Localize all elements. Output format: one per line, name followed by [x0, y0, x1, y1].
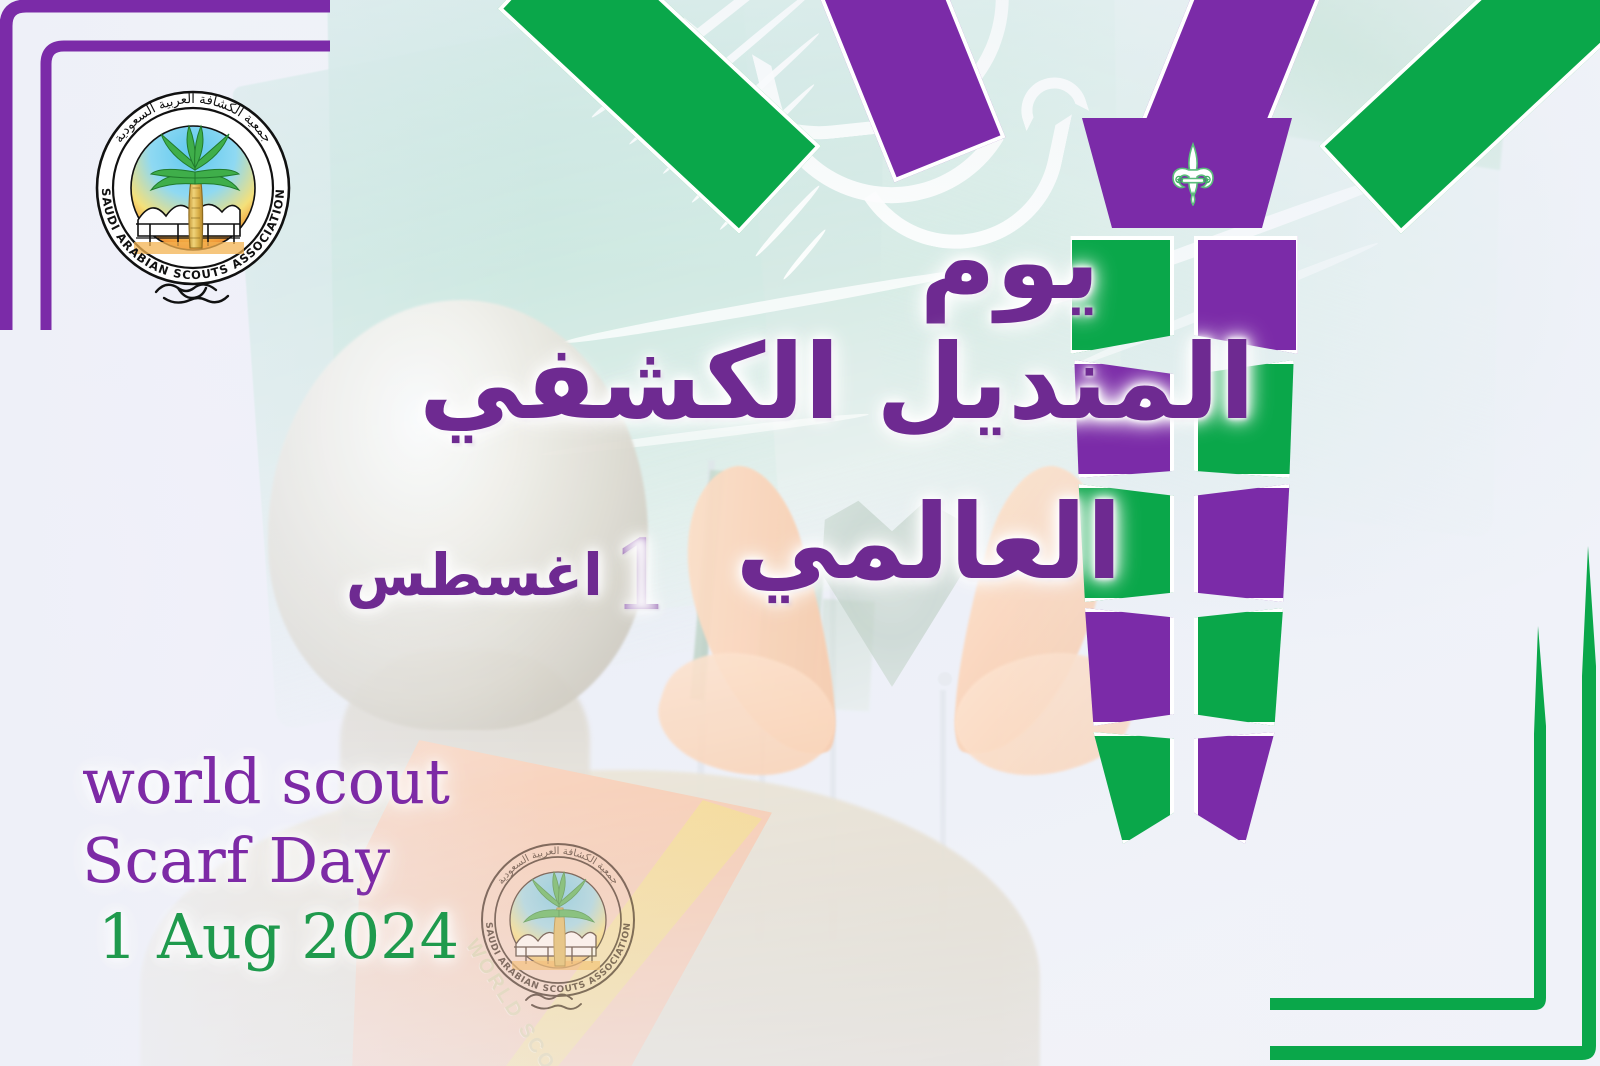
scarf-tail-cell: [1068, 732, 1174, 844]
arabic-title-line-2: المنديل الكشفي: [419, 330, 1255, 434]
scarf-tail-cell: [1194, 484, 1300, 602]
english-date: 1 Aug 2024: [98, 900, 459, 973]
poster-canvas: WORLD SCOUT JAMBOREE: [0, 0, 1600, 1066]
english-title: world scout Scarf Day: [82, 742, 450, 901]
arabic-date-month: اغسطس: [346, 541, 603, 609]
scarf-tail-cell: [1068, 608, 1174, 726]
arabic-date: 1اغسطس: [346, 520, 680, 632]
saudi-scouts-logo: جمعية الكشافة العربية السعودية SAUDI ARA…: [78, 70, 308, 310]
scarf-tail-cell: [1194, 732, 1300, 844]
scarf-tail-cell: [1194, 608, 1300, 726]
fleur-de-lis-icon: [1164, 142, 1222, 206]
arabic-date-number: 1: [603, 520, 680, 632]
saudi-scouts-logo-on-neckerchief: جمعية الكشافة العربية السعودية SAUDI ARA…: [468, 828, 648, 1016]
arabic-title-line-1: يوم: [920, 210, 1100, 314]
arabic-title-line-3: العالمي: [736, 490, 1122, 594]
world-scout-scarf-graphic: [1020, 0, 1480, 890]
